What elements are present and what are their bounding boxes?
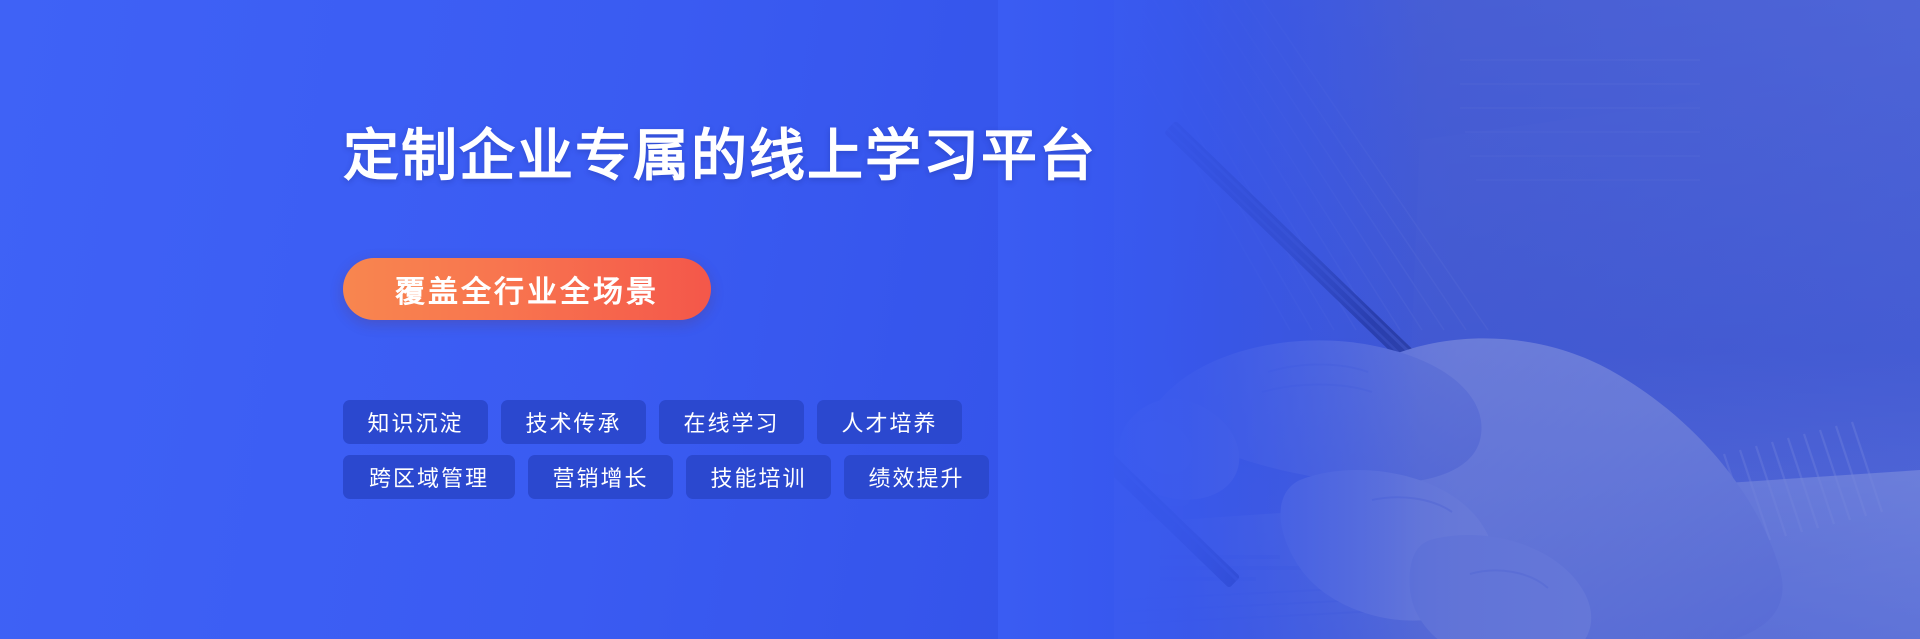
coverage-pill-button[interactable]: 覆盖全行业全场景 bbox=[343, 258, 711, 320]
tag-skills-training[interactable]: 技能培训 bbox=[686, 455, 831, 499]
hero-banner: 定制企业专属的线上学习平台 覆盖全行业全场景 知识沉淀 技术传承 在线学习 人才… bbox=[0, 0, 1920, 639]
tag-row-1: 知识沉淀 技术传承 在线学习 人才培养 bbox=[343, 400, 989, 444]
tag-cross-region-management[interactable]: 跨区域管理 bbox=[343, 455, 515, 499]
tag-talent-development[interactable]: 人才培养 bbox=[817, 400, 962, 444]
tag-list: 知识沉淀 技术传承 在线学习 人才培养 跨区域管理 营销增长 技能培训 绩效提升 bbox=[343, 400, 989, 499]
tag-marketing-growth[interactable]: 营销增长 bbox=[528, 455, 673, 499]
tag-online-learning[interactable]: 在线学习 bbox=[659, 400, 804, 444]
tag-performance-improvement[interactable]: 绩效提升 bbox=[844, 455, 989, 499]
tag-row-2: 跨区域管理 营销增长 技能培训 绩效提升 bbox=[343, 455, 989, 499]
page-title: 定制企业专属的线上学习平台 bbox=[343, 124, 1097, 188]
tag-technology-inheritance[interactable]: 技术传承 bbox=[501, 400, 646, 444]
banner-content: 定制企业专属的线上学习平台 覆盖全行业全场景 知识沉淀 技术传承 在线学习 人才… bbox=[343, 0, 1243, 639]
tag-knowledge-precipitation[interactable]: 知识沉淀 bbox=[343, 400, 488, 444]
